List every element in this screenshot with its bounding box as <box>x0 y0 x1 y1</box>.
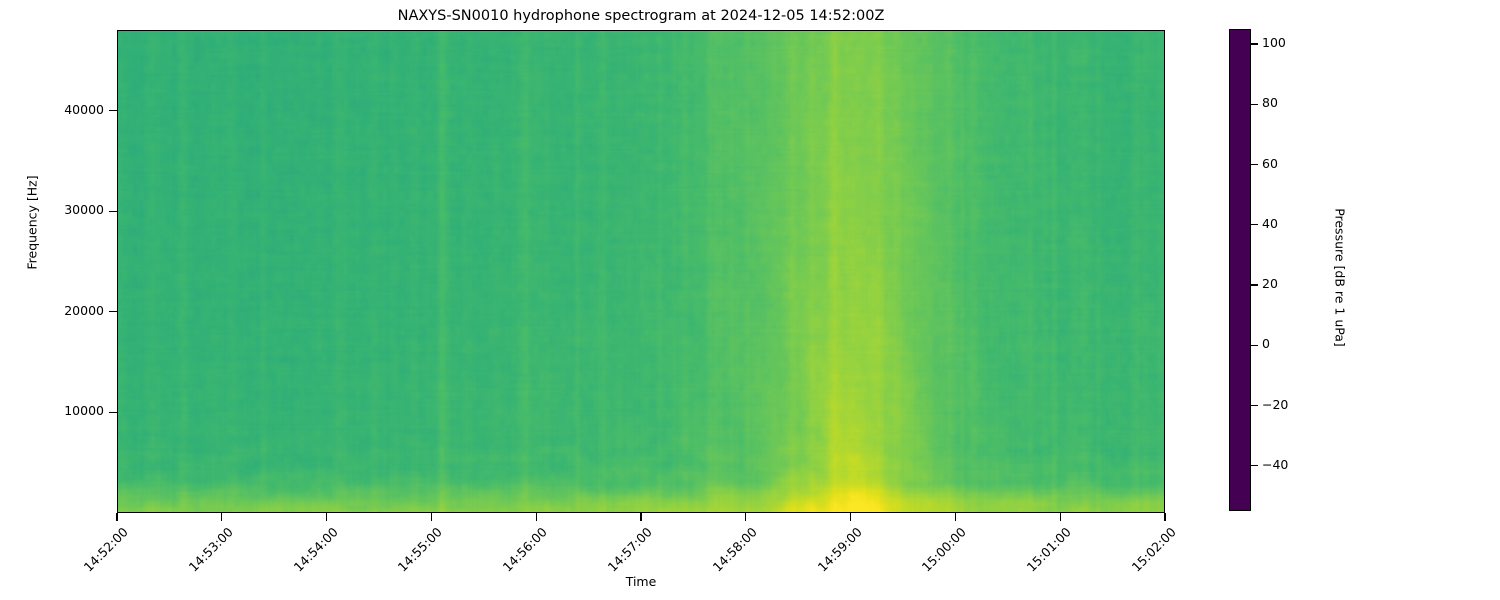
x-axis-tick-mark <box>745 513 746 521</box>
colorbar-tick-mark <box>1251 164 1258 165</box>
matplotlib-figure: NAXYS-SN0010 hydrophone spectrogram at 2… <box>0 0 1500 600</box>
x-axis-tick-mark <box>850 513 851 521</box>
colorbar-tick-label: 20 <box>1262 278 1278 290</box>
y-axis-tick-mark <box>109 412 117 413</box>
colorbar-tick-mark <box>1251 224 1258 225</box>
x-axis-tick-mark <box>536 513 537 521</box>
colorbar-gradient <box>1229 29 1251 511</box>
page-title: NAXYS-SN0010 hydrophone spectrogram at 2… <box>117 7 1165 25</box>
x-axis-tick-mark <box>431 513 432 521</box>
x-axis-tick-label: 14:57:00 <box>603 525 655 577</box>
colorbar-tick-label: 80 <box>1262 97 1278 109</box>
colorbar-tick-mark <box>1251 405 1258 406</box>
x-axis-tick-mark <box>221 513 222 521</box>
y-axis-label: Frequency [Hz] <box>25 163 40 283</box>
colorbar-tick-mark <box>1251 43 1258 44</box>
y-axis-tick-label: 30000 <box>36 204 104 216</box>
colorbar-tick-mark <box>1251 104 1258 105</box>
x-axis-label: Time <box>117 574 1165 589</box>
y-axis-tick-mark <box>109 311 117 312</box>
colorbar-tick-mark <box>1251 284 1258 285</box>
x-axis-tick-label: 14:56:00 <box>498 525 550 577</box>
colorbar-tick-label: 40 <box>1262 218 1278 230</box>
x-axis-tick-label: 15:01:00 <box>1022 525 1074 577</box>
x-axis-tick-label: 14:55:00 <box>393 525 445 577</box>
y-axis-tick-mark <box>109 211 117 212</box>
x-axis-tick-label: 14:58:00 <box>707 525 759 577</box>
x-axis-tick-mark <box>955 513 956 521</box>
x-axis-tick-mark <box>640 513 641 521</box>
colorbar-tick-mark <box>1251 465 1258 466</box>
x-axis-tick-mark <box>116 513 117 521</box>
x-axis-tick-label: 14:59:00 <box>812 525 864 577</box>
y-axis-tick-mark <box>109 110 117 111</box>
x-axis-tick-label: 14:53:00 <box>183 525 235 577</box>
y-axis-tick-label: 40000 <box>36 104 104 116</box>
colorbar-tick-mark <box>1251 345 1258 346</box>
x-axis-tick-mark <box>1164 513 1165 521</box>
spectrogram-image <box>118 31 1165 513</box>
x-axis-tick-mark <box>326 513 327 521</box>
x-axis-tick-label: 15:00:00 <box>917 525 969 577</box>
colorbar-tick-label: −40 <box>1262 459 1288 471</box>
colorbar-label: Pressure [dB re 1 uPa] <box>1333 168 1348 388</box>
spectrogram-axes <box>117 30 1165 513</box>
colorbar <box>1229 29 1251 511</box>
x-axis-tick-mark <box>1060 513 1061 521</box>
colorbar-tick-label: 0 <box>1262 338 1270 350</box>
colorbar-tick-label: −20 <box>1262 399 1288 411</box>
x-axis-tick-label: 14:52:00 <box>79 525 131 577</box>
y-axis-tick-label: 20000 <box>36 305 104 317</box>
colorbar-tick-label: 60 <box>1262 158 1278 170</box>
x-axis-tick-label: 15:02:00 <box>1127 525 1179 577</box>
y-axis-tick-label: 10000 <box>36 405 104 417</box>
colorbar-tick-label: 100 <box>1262 37 1286 49</box>
x-axis-tick-label: 14:54:00 <box>288 525 340 577</box>
